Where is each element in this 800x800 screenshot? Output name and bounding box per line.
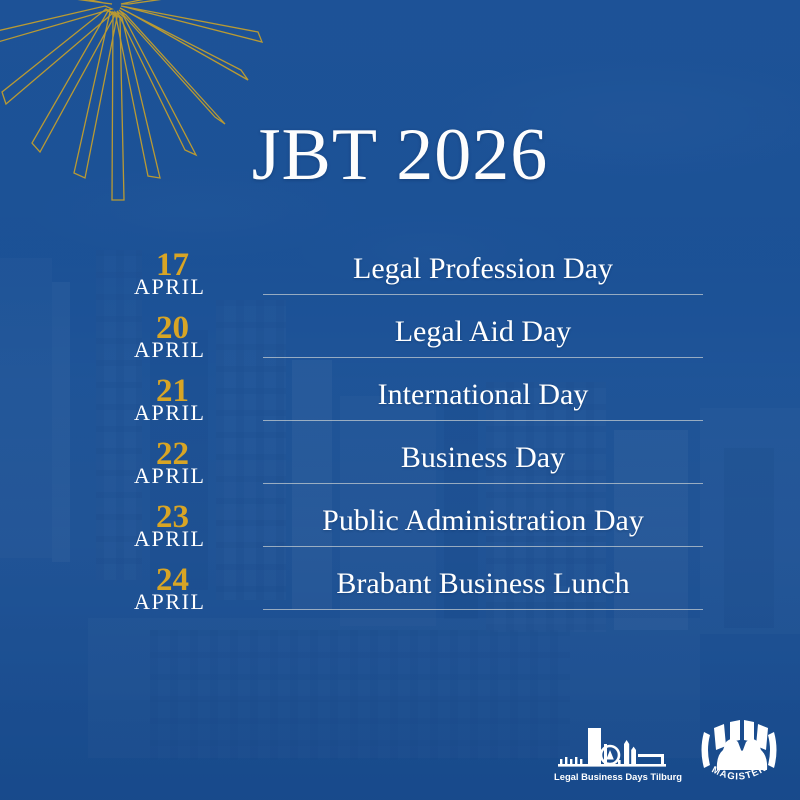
event-divider (263, 420, 703, 421)
schedule-row: 17 APRIL Legal Profession Day (0, 252, 800, 315)
schedule-row: 24 APRIL Brabant Business Lunch (0, 567, 800, 630)
schedule-row: 21 APRIL International Day (0, 378, 800, 441)
event-name: Legal Aid Day (256, 313, 710, 351)
magister-jft-figures-icon: MAGISTER JFT (696, 714, 782, 790)
date-cell: 24 APRIL (108, 567, 236, 630)
event-cell: Legal Aid Day (256, 315, 710, 378)
date-cell: 21 APRIL (108, 378, 236, 441)
tilburg-skyline-icon: Legal Business Days Tilburg (552, 728, 684, 790)
poster-canvas: JBT 2026 17 APRIL Legal Profession Day 2… (0, 0, 800, 800)
schedule-list: 17 APRIL Legal Profession Day 20 APRIL L… (0, 252, 800, 630)
date-cell: 22 APRIL (108, 441, 236, 504)
tilburg-logo-label: Legal Business Days Tilburg (554, 771, 682, 782)
page-title: JBT 2026 (0, 118, 800, 192)
month-label: APRIL (134, 528, 206, 550)
event-cell: Legal Profession Day (256, 252, 710, 315)
event-name: International Day (256, 376, 710, 414)
schedule-row: 20 APRIL Legal Aid Day (0, 315, 800, 378)
event-cell: International Day (256, 378, 710, 441)
event-cell: Business Day (256, 441, 710, 504)
event-divider (263, 609, 703, 610)
date-cell: 23 APRIL (108, 504, 236, 567)
event-name: Brabant Business Lunch (256, 565, 710, 603)
event-divider (263, 294, 703, 295)
footer-logos: Legal Business Days Tilburg MAGISTER JFT (552, 714, 782, 790)
date-cell: 17 APRIL (108, 252, 236, 315)
event-divider (263, 546, 703, 547)
month-label: APRIL (134, 276, 206, 298)
event-name: Business Day (256, 439, 710, 477)
event-name: Legal Profession Day (256, 250, 710, 288)
event-cell: Public Administration Day (256, 504, 710, 567)
date-cell: 20 APRIL (108, 315, 236, 378)
schedule-row: 23 APRIL Public Administration Day (0, 504, 800, 567)
month-label: APRIL (134, 402, 206, 424)
month-label: APRIL (134, 465, 206, 487)
event-divider (263, 483, 703, 484)
event-name: Public Administration Day (256, 502, 710, 540)
month-label: APRIL (134, 591, 206, 613)
event-cell: Brabant Business Lunch (256, 567, 710, 630)
event-divider (263, 357, 703, 358)
schedule-row: 22 APRIL Business Day (0, 441, 800, 504)
month-label: APRIL (134, 339, 206, 361)
